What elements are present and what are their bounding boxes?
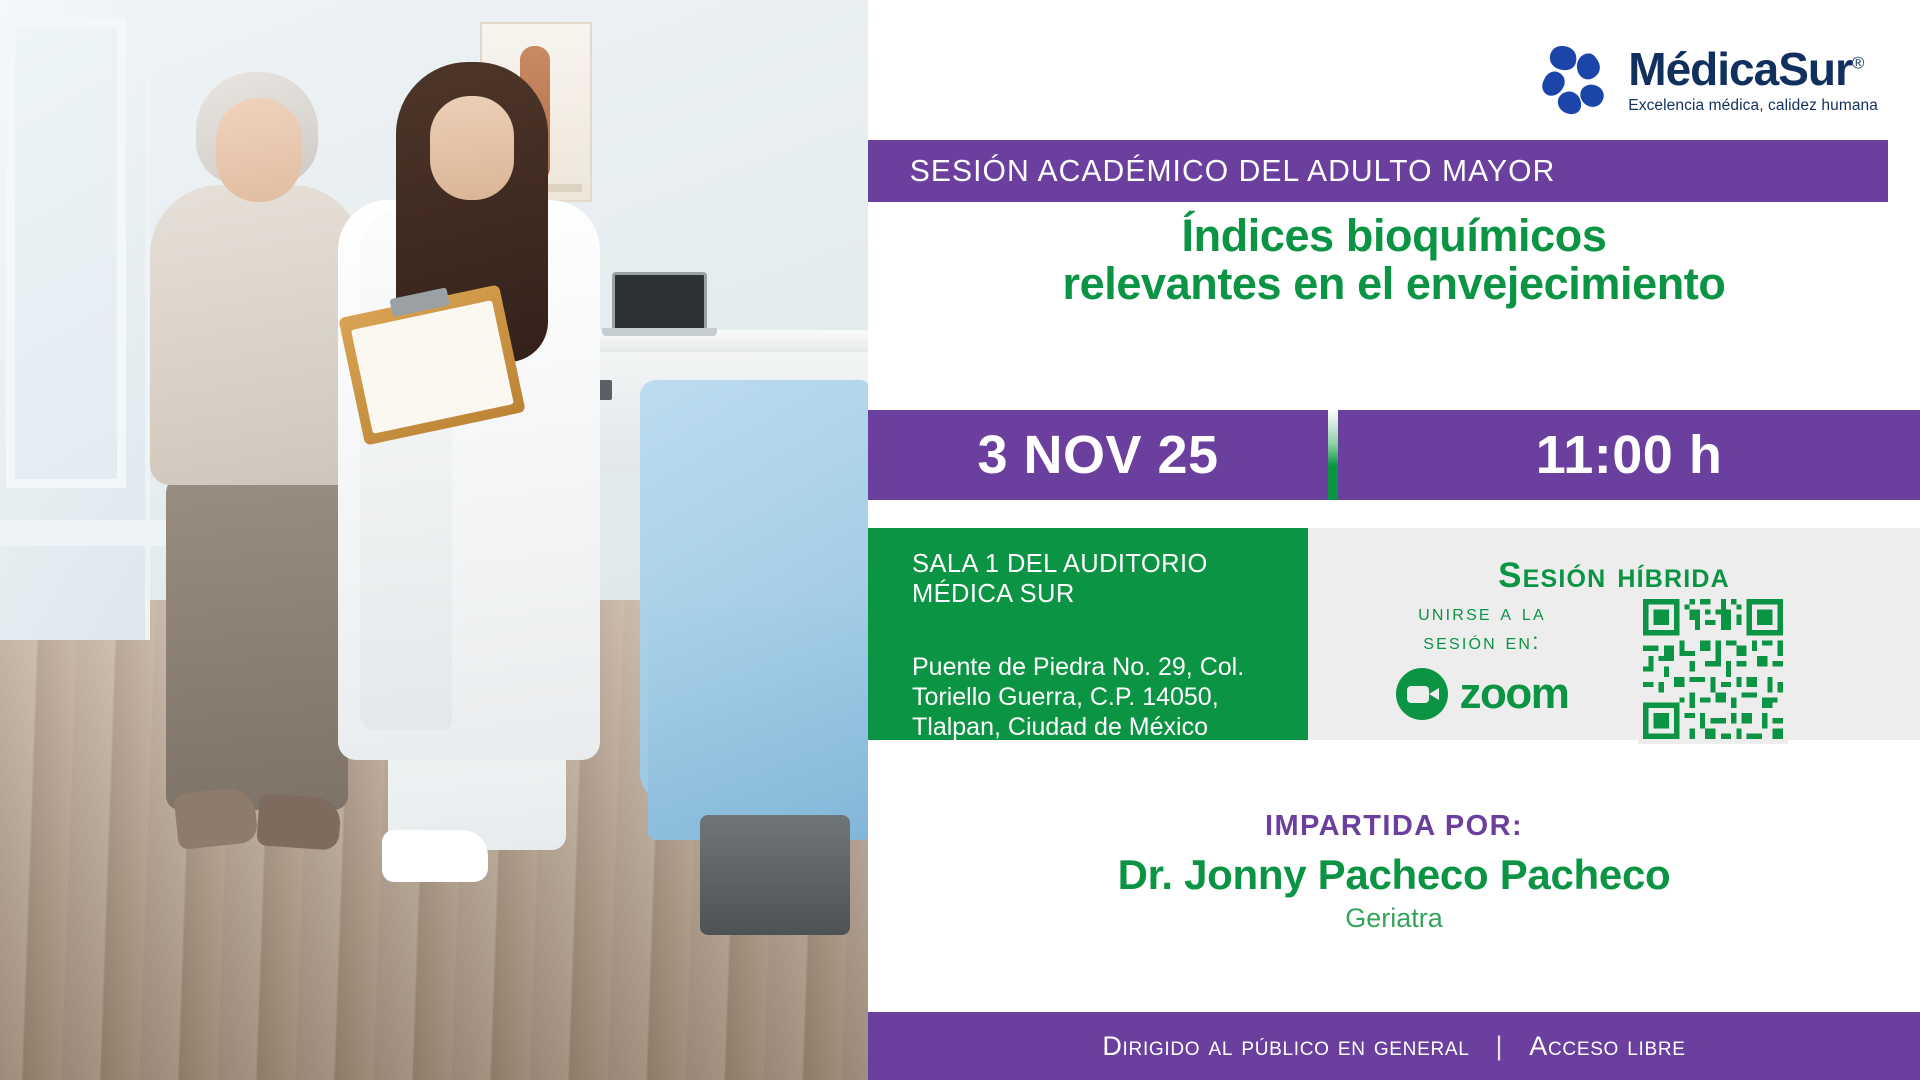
photo-patient-shoe-left [173, 786, 258, 850]
video-camera-icon [1396, 668, 1448, 720]
schedule-bar: 3 NOV 25 11:00 h [868, 410, 1920, 500]
photo-window-sill [0, 520, 175, 546]
venue-name: SALA 1 DEL AUDITORIO MÉDICA SUR [868, 528, 1308, 610]
speaker-label: IMPARTIDA POR: [868, 810, 1920, 843]
medicasur-logo: MédicaSur® Excelencia médica, calidez hu… [1536, 42, 1878, 118]
session-type-banner: SESIÓN ACADÉMICO DEL ADULTO MAYOR [868, 140, 1888, 202]
speaker-section: IMPARTIDA POR: Dr. Jonny Pacheco Pacheco… [868, 810, 1920, 934]
photo-patient-blouse [150, 185, 362, 485]
venue-address-line-2: Toriello Guerra, C.P. 14050, [912, 682, 1290, 712]
speaker-role: Geriatra [868, 903, 1920, 934]
footer-separator: | [1496, 1031, 1504, 1062]
poster-footer: Dirigido al público en general | Acceso … [868, 1012, 1920, 1080]
qr-code[interactable] [1638, 594, 1788, 744]
event-time-text: 11:00 h [1536, 424, 1723, 486]
photo-exam-chair-seat [648, 610, 868, 840]
photo-patient-face [216, 98, 302, 202]
join-label-line-1: unirse a la [1326, 598, 1638, 627]
registered-mark: ® [1852, 53, 1864, 72]
footer-audience: Dirigido al público en general [1102, 1031, 1469, 1062]
photo-clipboard-paper [351, 300, 514, 434]
join-session-block: unirse a la sesión en: zoom [1308, 588, 1920, 740]
photo-exam-chair-base [700, 815, 850, 935]
zoom-logo[interactable]: zoom [1326, 668, 1638, 720]
speaker-name: Dr. Jonny Pacheco Pacheco [868, 851, 1920, 899]
medicasur-wordmark: MédicaSur® Excelencia médica, calidez hu… [1628, 46, 1878, 115]
photo-laptop-screen [612, 272, 707, 330]
session-type-text: SESIÓN ACADÉMICO DEL ADULTO MAYOR [868, 153, 1555, 189]
venue-name-line-2: MÉDICA SUR [912, 580, 1278, 610]
join-instructions: unirse a la sesión en: zoom [1308, 588, 1638, 720]
event-time: 11:00 h [1338, 410, 1920, 500]
venue-address: Puente de Piedra No. 29, Col. Toriello G… [868, 652, 1308, 742]
title-line-1: Índices bioquímicos [868, 212, 1920, 260]
photo-doctor-shoe [382, 830, 488, 882]
venue-block: SALA 1 DEL AUDITORIO MÉDICA SUR [868, 528, 1308, 652]
page-title: Índices bioquímicos relevantes en el env… [868, 212, 1920, 308]
event-date-text: 3 NOV 25 [977, 424, 1218, 486]
medicasur-name-text: MédicaSur [1628, 43, 1852, 95]
medicasur-name: MédicaSur® [1628, 46, 1878, 92]
event-poster: MédicaSur® Excelencia médica, calidez hu… [0, 0, 1920, 1080]
zoom-wordmark: zoom [1460, 672, 1569, 716]
clinic-photo [0, 0, 868, 1080]
venue-address-line-1: Puente de Piedra No. 29, Col. [912, 652, 1290, 682]
photo-patient-shoe-right [256, 793, 341, 851]
venue-address-block: Puente de Piedra No. 29, Col. Toriello G… [868, 652, 1308, 740]
join-label-line-2: sesión en: [1326, 627, 1638, 656]
hybrid-heading: Sesión híbrida [1308, 528, 1920, 596]
footer-access: Acceso libre [1529, 1031, 1685, 1062]
poster-content: MédicaSur® Excelencia médica, calidez hu… [868, 0, 1920, 1080]
venue-address-line-3: Tlalpan, Ciudad de México [912, 712, 1290, 742]
schedule-divider [1328, 410, 1338, 500]
title-line-2: relevantes en el envejecimiento [868, 260, 1920, 308]
medicasur-pinwheel-icon [1536, 42, 1612, 118]
schedule-divider-bar [1328, 410, 1338, 500]
venue-name-line-1: SALA 1 DEL AUDITORIO [912, 550, 1278, 580]
photo-patient-pants [166, 470, 348, 810]
photo-doctor-face [430, 96, 514, 200]
medicasur-tagline: Excelencia médica, calidez humana [1628, 97, 1878, 115]
photo-laptop-base [602, 328, 717, 336]
event-date: 3 NOV 25 [868, 410, 1328, 500]
photo-window-frame [6, 18, 126, 488]
